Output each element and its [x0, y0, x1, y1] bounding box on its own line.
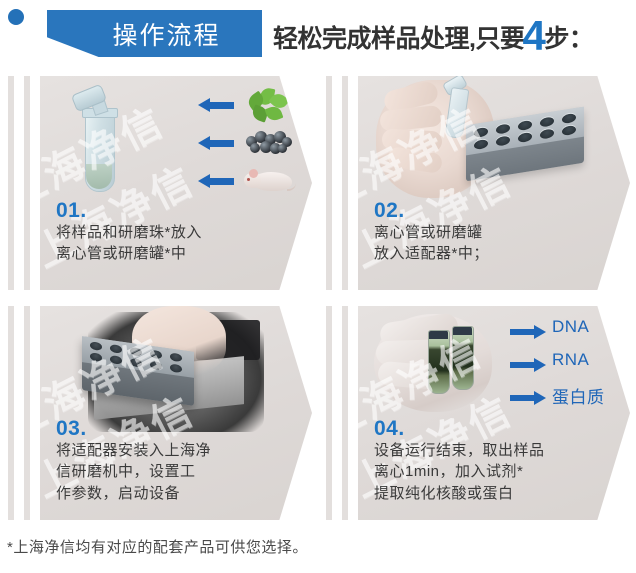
step-text-line: 信研磨机中，设置工 — [56, 461, 296, 482]
step-caption-03: 03. 将适配器安装入上海净 信研磨机中，设置工 作参数，启动设备 — [56, 418, 296, 504]
step-panel-03: 上海净信 上海净信 03. 将适配器安装入上海净 信研磨机中，设置工 作参数，启… — [40, 306, 312, 520]
step-text-line: 放入适配器*中； — [374, 243, 614, 264]
page-title-prefix: 轻松完成样品处理,只要 — [273, 19, 524, 55]
output-label-dna: DNA — [552, 317, 589, 337]
decor-bar — [342, 306, 348, 520]
decor-bar — [326, 76, 332, 290]
step-number: 04. — [374, 418, 614, 440]
step-card-01: 上海净信 上海净信 01. 将样品和研磨珠*放入 离心管或研磨罐*中 — [0, 72, 318, 294]
step-caption-04: 04. 设备运行结束，取出样品 离心1min，加入试剂* 提取纯化核酸或蛋白 — [374, 418, 614, 504]
output-label-protein: 蛋白质 — [552, 383, 605, 408]
leaf-sample-icon — [248, 88, 286, 122]
step-caption-02: 02. 离心管或研磨罐 放入适配器*中； — [374, 200, 614, 265]
step-caption-01: 01. 将样品和研磨珠*放入 离心管或研磨罐*中 — [56, 200, 296, 265]
infographic-page: 操作流程 轻松完成样品处理,只要 4 步： — [0, 0, 636, 573]
left-arrow-icon — [198, 98, 234, 113]
page-title-number: 4 — [522, 15, 545, 57]
step-photo-03 — [40, 306, 312, 434]
right-arrow-icon — [510, 325, 546, 339]
page-title-suffix: 步： — [544, 19, 593, 55]
page-title: 轻松完成样品处理,只要 4 步： — [273, 12, 593, 57]
step-photo-02 — [358, 76, 630, 204]
section-banner-label: 操作流程 — [47, 10, 262, 57]
step-number: 02. — [374, 200, 614, 222]
left-arrow-icon — [198, 136, 234, 151]
mouse-sample-icon — [244, 166, 294, 194]
right-arrow-icon — [510, 391, 546, 405]
step-card-04: DNA RNA 蛋白质 上海净信 上海净信 04. 设备运行结束，取出样品 离心… — [318, 302, 636, 524]
left-arrow-icon — [198, 174, 234, 189]
steps-grid: 上海净信 上海净信 01. 将样品和研磨珠*放入 离心管或研磨罐*中 — [0, 72, 636, 524]
step-text-line: 将适配器安装入上海净 — [56, 440, 296, 461]
section-banner: 操作流程 — [47, 10, 262, 57]
step-card-03: 上海净信 上海净信 03. 将适配器安装入上海净 信研磨机中，设置工 作参数，启… — [0, 302, 318, 524]
decor-bar — [342, 76, 348, 290]
step-card-02: 上海净信 上海净信 02. 离心管或研磨罐 放入适配器*中； — [318, 72, 636, 294]
page-header: 操作流程 轻松完成样品处理,只要 4 步： — [0, 0, 636, 68]
step-text-line: 离心管或研磨罐 — [374, 222, 614, 243]
sample-vial-icon — [452, 326, 474, 390]
step-panel-01: 上海净信 上海净信 01. 将样品和研磨珠*放入 离心管或研磨罐*中 — [40, 76, 312, 290]
decor-bar — [24, 306, 30, 520]
step-text-line: 离心1min，加入试剂* — [374, 461, 614, 482]
step-photo-01 — [40, 76, 312, 204]
grinding-beads-icon — [244, 128, 292, 154]
step-text-line: 离心管或研磨罐*中 — [56, 243, 296, 264]
step-text-line: 提取纯化核酸或蛋白 — [374, 483, 614, 504]
sample-vial-icon — [428, 330, 450, 394]
step-panel-02: 上海净信 上海净信 02. 离心管或研磨罐 放入适配器*中； — [358, 76, 630, 290]
decor-bar — [8, 306, 14, 520]
step-photo-04: DNA RNA 蛋白质 — [358, 306, 630, 434]
step-panel-04: DNA RNA 蛋白质 上海净信 上海净信 04. 设备运行结束，取出样品 离心… — [358, 306, 630, 520]
blue-dot-icon — [8, 9, 24, 25]
step-number: 03. — [56, 418, 296, 440]
output-label-rna: RNA — [552, 350, 589, 370]
decor-bar — [8, 76, 14, 290]
step-text-line: 作参数，启动设备 — [56, 483, 296, 504]
right-arrow-icon — [510, 358, 546, 372]
step-text-line: 将样品和研磨珠*放入 — [56, 222, 296, 243]
step-text-line: 设备运行结束，取出样品 — [374, 440, 614, 461]
decor-bar — [24, 76, 30, 290]
step-number: 01. — [56, 200, 296, 222]
centrifuge-tube-icon — [77, 90, 121, 194]
decor-bar — [326, 306, 332, 520]
footnote: *上海净信均有对应的配套产品可供您选择。 — [7, 536, 507, 557]
